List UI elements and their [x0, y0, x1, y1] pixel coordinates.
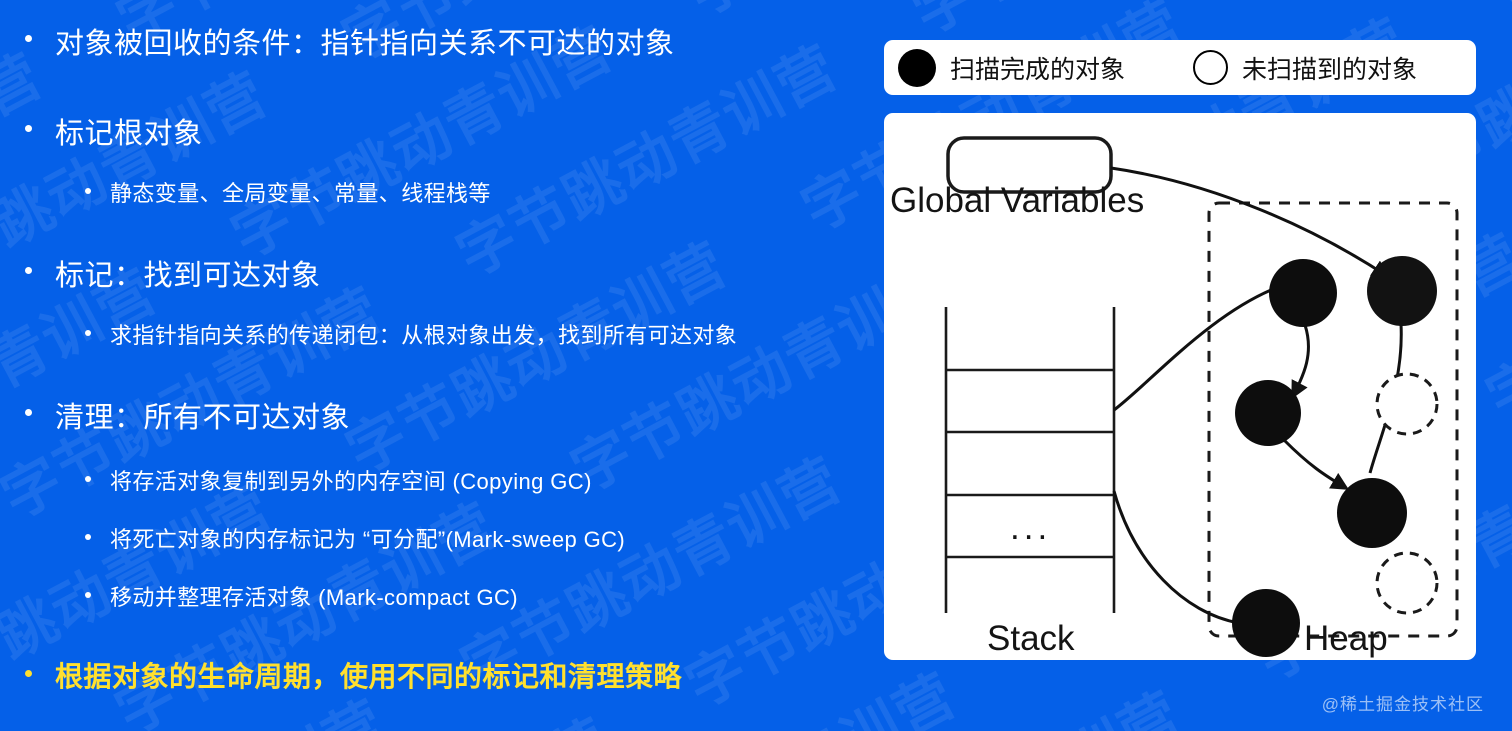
- bullet-text: 根据对象的生命周期，使用不同的标记和清理策略: [55, 655, 682, 695]
- bullet-dot-icon: [25, 409, 32, 416]
- unscanned-object-a: [1377, 374, 1437, 434]
- bullet-item: 静态变量、全局变量、常量、线程栈等: [85, 176, 491, 208]
- bullet-dot-icon: [85, 534, 91, 540]
- legend-label-scanned: 扫描完成的对象: [950, 50, 1125, 86]
- scanned-object-b: [1235, 380, 1301, 446]
- bullet-dot-icon: [85, 476, 91, 482]
- memory-diagram-panel: Global Variables Stack ... Heap: [884, 113, 1476, 660]
- heap-label: Heap: [1304, 619, 1388, 658]
- bullet-item: 清理：所有不可达对象: [25, 394, 350, 436]
- stack-label: Stack: [987, 619, 1075, 658]
- unscanned-object-b: [1377, 553, 1437, 613]
- diagram-legend: 扫描完成的对象 未扫描到的对象: [884, 40, 1476, 95]
- global-variables-label: Global Variables: [890, 181, 1144, 220]
- bullet-dot-icon: [25, 35, 32, 42]
- memory-diagram-svg: Global Variables Stack ... Heap: [884, 113, 1476, 660]
- bullet-item: 标记根对象: [25, 110, 203, 152]
- connector-stack-to-object-e: [1114, 491, 1239, 623]
- stack-ellipsis: ...: [1010, 508, 1051, 547]
- bullet-text: 移动并整理存活对象 (Mark-compact GC): [110, 580, 518, 612]
- scanned-object-c: [1367, 256, 1437, 326]
- bullet-text: 将死亡对象的内存标记为 “可分配”(Mark-sweep GC): [110, 522, 625, 554]
- bullet-text: 标记根对象: [55, 110, 203, 152]
- bullet-item: 对象被回收的条件：指针指向关系不可达的对象: [25, 20, 675, 62]
- scanned-object-e: [1232, 589, 1300, 657]
- bullet-text: 求指针指向关系的传递闭包：从根对象出发，找到所有可达对象: [110, 318, 737, 350]
- connector-b-to-d: [1284, 440, 1346, 488]
- bullet-dot-icon: [85, 330, 91, 336]
- bullet-list: 对象被回收的条件：指针指向关系不可达的对象标记根对象静态变量、全局变量、常量、线…: [0, 0, 880, 731]
- bullet-dot-icon: [25, 267, 32, 274]
- corner-watermark: @稀土掘金技术社区: [1322, 690, 1484, 715]
- legend-item-unscanned: 未扫描到的对象: [1193, 50, 1417, 86]
- bullet-text: 将存活对象复制到另外的内存空间 (Copying GC): [110, 464, 592, 496]
- bullet-dot-icon: [85, 188, 91, 194]
- bullet-item: 将死亡对象的内存标记为 “可分配”(Mark-sweep GC): [85, 522, 625, 554]
- bullet-text: 清理：所有不可达对象: [55, 394, 350, 436]
- bullet-dot-icon: [25, 125, 32, 132]
- bullet-text: 静态变量、全局变量、常量、线程栈等: [110, 176, 491, 208]
- bullet-item: 标记：找到可达对象: [25, 252, 321, 294]
- bullet-dot-icon: [85, 592, 91, 598]
- watermark-tile: 字节跳动青训营: [1475, 0, 1512, 17]
- bullet-dot-icon: [25, 670, 32, 677]
- bullet-text: 对象被回收的条件：指针指向关系不可达的对象: [55, 20, 675, 62]
- legend-label-unscanned: 未扫描到的对象: [1242, 50, 1417, 86]
- watermark-tile: 字节跳动青训营: [1479, 181, 1512, 429]
- empty-circle-icon: [1193, 50, 1228, 85]
- slide-root: 字节跳动青训营字节跳动青训营字节跳动青训营字节跳动青训营 字节跳动青训营字节跳动…: [0, 0, 1512, 731]
- filled-circle-icon: [898, 49, 936, 87]
- scanned-object-d: [1337, 478, 1407, 548]
- bullet-item: 求指针指向关系的传递闭包：从根对象出发，找到所有可达对象: [85, 318, 737, 350]
- bullet-item: 将存活对象复制到另外的内存空间 (Copying GC): [85, 464, 592, 496]
- scanned-object-a: [1269, 259, 1337, 327]
- legend-item-scanned: 扫描完成的对象: [898, 49, 1125, 87]
- connector-a-to-b: [1293, 325, 1308, 396]
- bullet-text: 标记：找到可达对象: [55, 252, 321, 294]
- connector-global-to-object: [1111, 168, 1387, 276]
- watermark-tile: 字节跳动青训营: [904, 0, 1302, 44]
- bullet-item-highlighted: 根据对象的生命周期，使用不同的标记和清理策略: [25, 655, 682, 695]
- bullet-item: 移动并整理存活对象 (Mark-compact GC): [85, 580, 518, 612]
- stack-frames: [946, 307, 1114, 613]
